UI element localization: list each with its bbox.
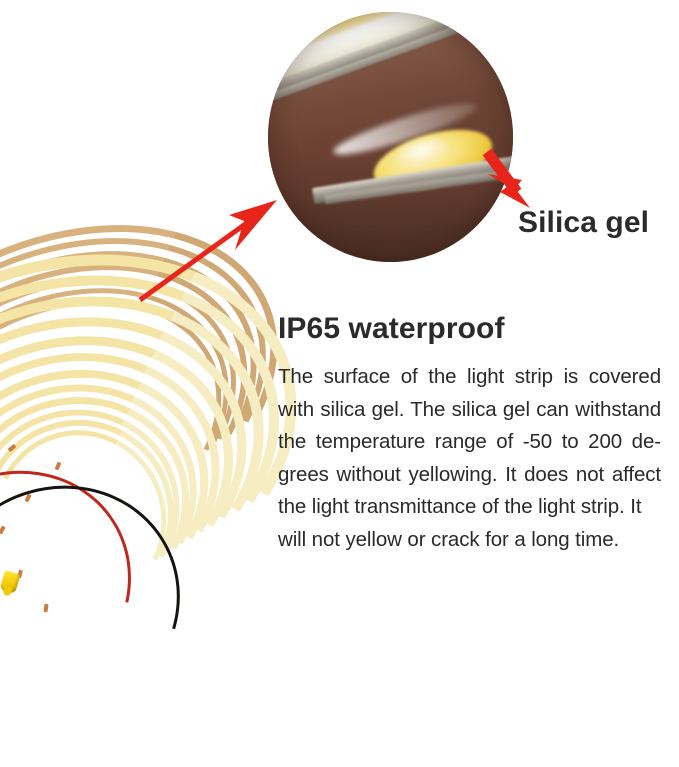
body-text-run: The surface of the light strip is covere… [278, 365, 661, 518]
feature-copy-block: IP65 waterproof The surface of the light… [278, 312, 661, 556]
feature-body-text: The surface of the light strip is covere… [278, 361, 661, 556]
body-text-lastline: will not yellow or crack for a long time… [278, 524, 661, 557]
silica-gel-closeup-inset [268, 12, 513, 262]
silica-gel-callout-label: Silica gel [518, 206, 649, 240]
product-feature-graphic: Silica gel IP65 waterproof The surface o… [0, 0, 679, 612]
feature-heading: IP65 waterproof [278, 312, 661, 345]
led-strip-coil-image [0, 236, 284, 616]
